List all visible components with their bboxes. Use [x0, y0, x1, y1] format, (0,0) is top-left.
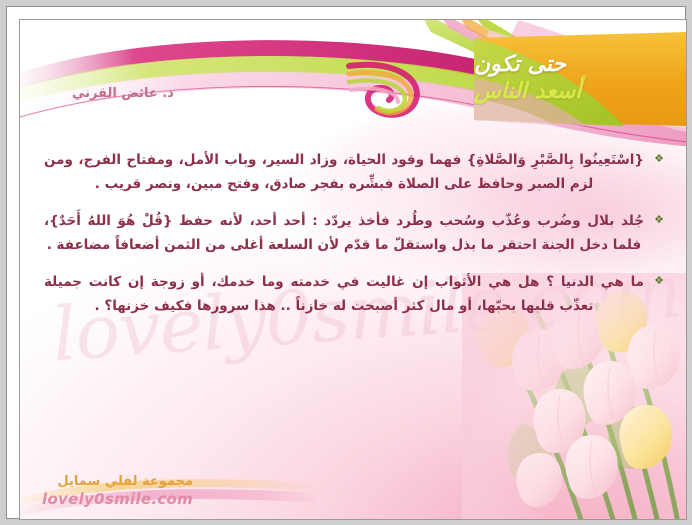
- paragraph-dunya: ❖ ما هي الدنيا ؟ هل هي الأثواب إن غاليت …: [38, 270, 666, 318]
- paragraph-text: ما هي الدنيا ؟ هل هي الأثواب إن غاليت في…: [44, 274, 644, 314]
- body-content: ❖ {اسْتَعِينُوا بِالصَّبْرِ وَالصَّلاةِ}…: [38, 148, 666, 331]
- footer-url: lovely0smile.com: [42, 490, 193, 509]
- paragraph-text: {اسْتَعِينُوا بِالصَّبْرِ وَالصَّلاةِ} ف…: [44, 152, 644, 192]
- title-banner: حتى تكون أسعد الناس: [474, 32, 686, 126]
- outer-frame: lovely0smile.com: [6, 6, 686, 519]
- screenshot-root: lovely0smile.com: [0, 0, 692, 525]
- footer-credit: مجموعة لفلي سمايل lovely0smile.com: [42, 474, 193, 509]
- footer-group-name: مجموعة لفلي سمايل: [42, 474, 193, 490]
- title-line-2: أسعد الناس: [474, 79, 581, 104]
- title-text-group: حتى تكون أسعد الناس: [474, 32, 686, 126]
- paragraph-text: جُلد بلال وضُرب وعُذّب وسُحب وطُرد فأخذ …: [44, 213, 644, 253]
- bullet-icon: ❖: [654, 212, 664, 229]
- poster-card: lovely0smile.com: [19, 19, 687, 520]
- paragraph-bilal: ❖ جُلد بلال وضُرب وعُذّب وسُحب وطُرد فأخ…: [38, 209, 666, 257]
- bullet-icon: ❖: [654, 151, 664, 168]
- author-name: د. عائض القرني: [72, 86, 174, 101]
- paragraph-sabr-salah: ❖ {اسْتَعِينُوا بِالصَّبْرِ وَالصَّلاةِ}…: [38, 148, 666, 196]
- title-line-1: حتى تكون: [474, 52, 566, 77]
- bullet-icon: ❖: [654, 273, 664, 290]
